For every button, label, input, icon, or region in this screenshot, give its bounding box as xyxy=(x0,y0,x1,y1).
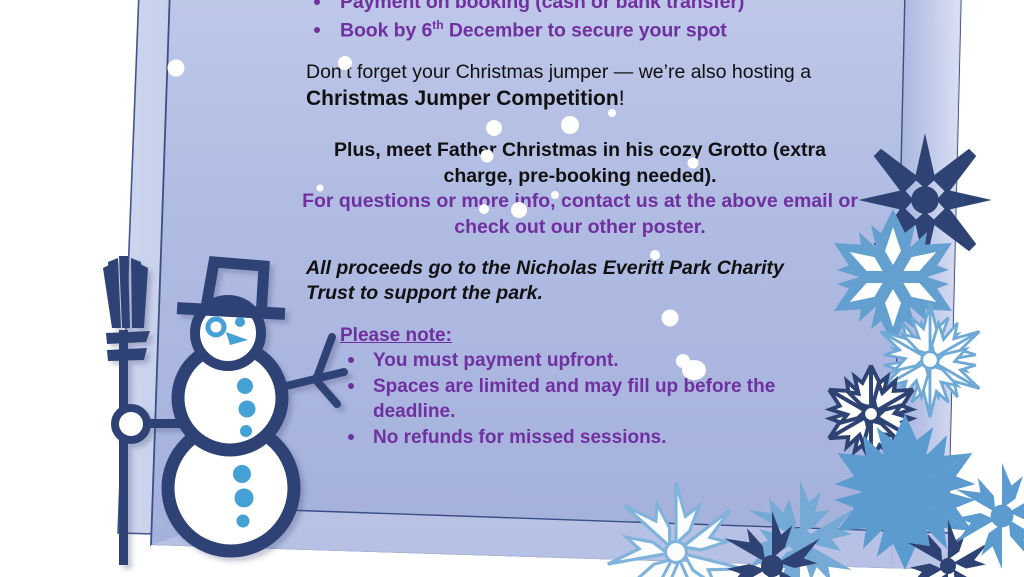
book-by-suffix: December to secure your spot xyxy=(444,19,727,41)
note-item-limited-spaces: Spaces are limited and may fill up befor… xyxy=(340,374,810,424)
booking-bullets: Payment on booking (cash or bank transfe… xyxy=(300,0,860,46)
jumper-line1: Don’t forget your Christmas jumper — we’… xyxy=(306,61,811,83)
proceeds-statement: All proceeds go to the Nicholas Everitt … xyxy=(306,256,836,307)
grotto-line-black: Plus, meet Father Christmas in his cozy … xyxy=(300,138,860,189)
book-by-prefix: Book by 6 xyxy=(340,19,432,41)
bullet-book-by-date: Book by 6th December to secure your spot xyxy=(300,18,860,43)
jumper-exclamation: ! xyxy=(619,87,625,110)
note-item-no-refunds: No refunds for missed sessions. xyxy=(340,425,810,450)
jumper-competition-bold: Christmas Jumper Competition xyxy=(306,87,619,110)
ordinal-suffix: th xyxy=(432,18,443,32)
poster-text-content: Payment on booking (cash or bank transfe… xyxy=(0,0,1024,577)
christmas-poster: Payment on booking (cash or bank transfe… xyxy=(0,0,1024,577)
note-item-payment-upfront: You must payment upfront. xyxy=(340,348,810,373)
grotto-line-purple: For questions or more info, contact us a… xyxy=(300,189,860,240)
grotto-paragraph: Plus, meet Father Christmas in his cozy … xyxy=(300,138,860,241)
jumper-paragraph: Don’t forget your Christmas jumper — we’… xyxy=(306,60,866,113)
bullet-payment-on-booking: Payment on booking (cash or bank transfe… xyxy=(300,0,860,15)
please-note-heading: Please note: xyxy=(340,325,810,347)
please-note-block: Please note: You must payment upfront. S… xyxy=(340,325,810,451)
